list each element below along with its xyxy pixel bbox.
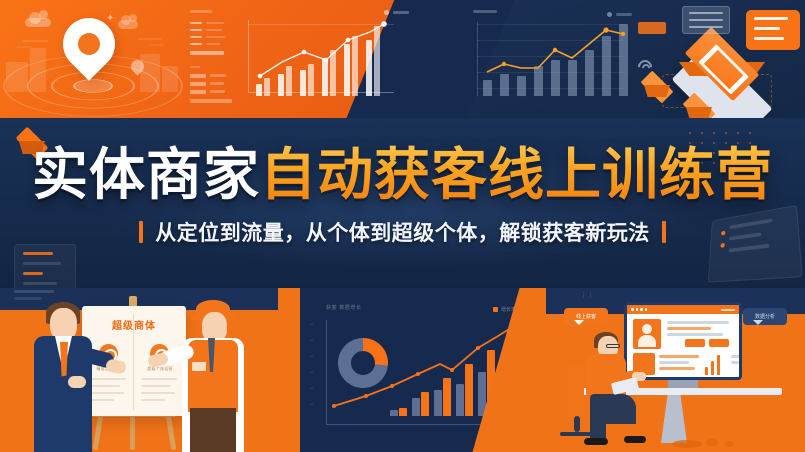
top-band: ✦ xyxy=(0,0,805,120)
subtitle-text: 从定位到流量，从个体到超级个体，解锁获客新玩法 xyxy=(155,217,650,247)
board-line xyxy=(90,385,120,387)
shoe xyxy=(624,436,646,443)
speech-bubble-left: 线上获客 xyxy=(564,308,608,325)
chart-line-series xyxy=(186,6,401,114)
board-title: 超级商体 xyxy=(82,317,186,332)
cube-icon xyxy=(684,94,714,120)
speed-line xyxy=(16,46,32,48)
left-illustration-scene: 超级商体 精准定位获客 超级个体运营 xyxy=(0,288,278,452)
dark-dashboard-chart xyxy=(455,8,630,112)
chair-post xyxy=(574,416,580,432)
right-illustration-scene: ⋮⋮ ⁞ 线上获客 数据分析 xyxy=(546,288,805,452)
window-dot xyxy=(636,308,639,311)
speech-bubble-right: 数据分析 xyxy=(743,308,787,325)
board-line xyxy=(141,392,175,394)
legend-dot xyxy=(607,12,612,17)
content-line xyxy=(667,333,723,336)
vest-pocket xyxy=(192,362,206,371)
legend-label-placeholder xyxy=(393,11,409,14)
radar-ring xyxy=(73,79,113,93)
board-label-right: 超级个体运营 xyxy=(138,366,182,372)
board-line xyxy=(90,399,114,401)
legend-dot xyxy=(384,10,389,15)
chart-bar-grey xyxy=(500,370,508,416)
board-line xyxy=(141,378,177,380)
ghost-line xyxy=(14,290,54,293)
title-part-white: 实体商家 xyxy=(32,143,260,206)
action-button[interactable] xyxy=(685,339,705,347)
speed-line xyxy=(150,44,164,46)
content-line xyxy=(659,367,695,370)
sparkle-icon: ✦ xyxy=(106,14,114,24)
easel-leg xyxy=(130,412,135,450)
dot-decoration: ⋮⋮ xyxy=(580,291,594,301)
office-chair xyxy=(568,366,584,416)
window-dot xyxy=(631,308,634,311)
floor-shadow xyxy=(672,440,702,448)
action-button[interactable] xyxy=(709,339,729,347)
window-dot xyxy=(640,308,643,311)
profile-avatar xyxy=(633,319,661,349)
bottom-row: 超级商体 精准定位获客 超级个体运营 xyxy=(0,288,805,452)
title-part-orange: 自动获客线上训练营 xyxy=(260,143,773,206)
title-block: 实体商家自动获客线上训练营 从定位到流量，从个体到超级个体，解锁获客新玩法 xyxy=(0,146,805,247)
chart-line-series xyxy=(312,304,524,436)
glasses-icon xyxy=(606,344,620,348)
dot-decoration: ⁞ xyxy=(777,342,779,351)
content-line xyxy=(731,355,741,358)
mini-bar-chart xyxy=(705,353,727,375)
center-chart-scene: 获客 数据增长 增长率 — — — — — — xyxy=(278,288,546,452)
content-line xyxy=(659,355,699,358)
board-line xyxy=(90,378,126,380)
speed-line xyxy=(138,38,162,40)
promo-banner: ✦ xyxy=(0,0,805,452)
isometric-illustration xyxy=(632,2,804,120)
chart-line-series xyxy=(455,8,630,112)
board-line xyxy=(90,392,124,394)
board-line xyxy=(141,385,171,387)
window-control xyxy=(721,309,735,311)
cloud-icon xyxy=(118,20,138,29)
legend-label-placeholder xyxy=(616,13,632,16)
content-line xyxy=(667,327,711,330)
board-divider xyxy=(133,314,134,410)
floor-shadow xyxy=(706,439,718,446)
window-dot xyxy=(645,308,648,311)
window-titlebar xyxy=(627,305,739,314)
content-line xyxy=(731,361,739,364)
hand xyxy=(68,376,86,388)
content-line xyxy=(659,361,689,364)
card-icon xyxy=(682,6,730,34)
subtitle-row: 从定位到流量，从个体到超级个体，解锁获客新玩法 xyxy=(0,217,805,247)
location-pin-scene: ✦ xyxy=(0,0,185,120)
dashboard-monitor xyxy=(624,302,742,380)
cloud-icon xyxy=(25,18,51,27)
cube-icon xyxy=(642,72,672,102)
board-line xyxy=(141,399,165,401)
growth-chart: 获客 数据增长 增长率 — — — — — — xyxy=(312,304,524,436)
main-title: 实体商家自动获客线上训练营 xyxy=(0,146,805,203)
floor-shadow xyxy=(724,441,734,447)
orange-dashboard-chart xyxy=(186,6,401,114)
subtitle-bar-right xyxy=(662,221,666,243)
desk-leg xyxy=(661,395,687,443)
shoe xyxy=(584,438,608,445)
content-line xyxy=(667,321,729,324)
tag-icon xyxy=(638,22,666,34)
chart-bar-orange xyxy=(509,338,517,416)
ghost-line xyxy=(14,297,42,300)
chat-bubble-icon xyxy=(746,10,800,50)
speed-line xyxy=(22,40,48,42)
trousers xyxy=(190,408,236,452)
subtitle-bar-left xyxy=(139,221,143,243)
